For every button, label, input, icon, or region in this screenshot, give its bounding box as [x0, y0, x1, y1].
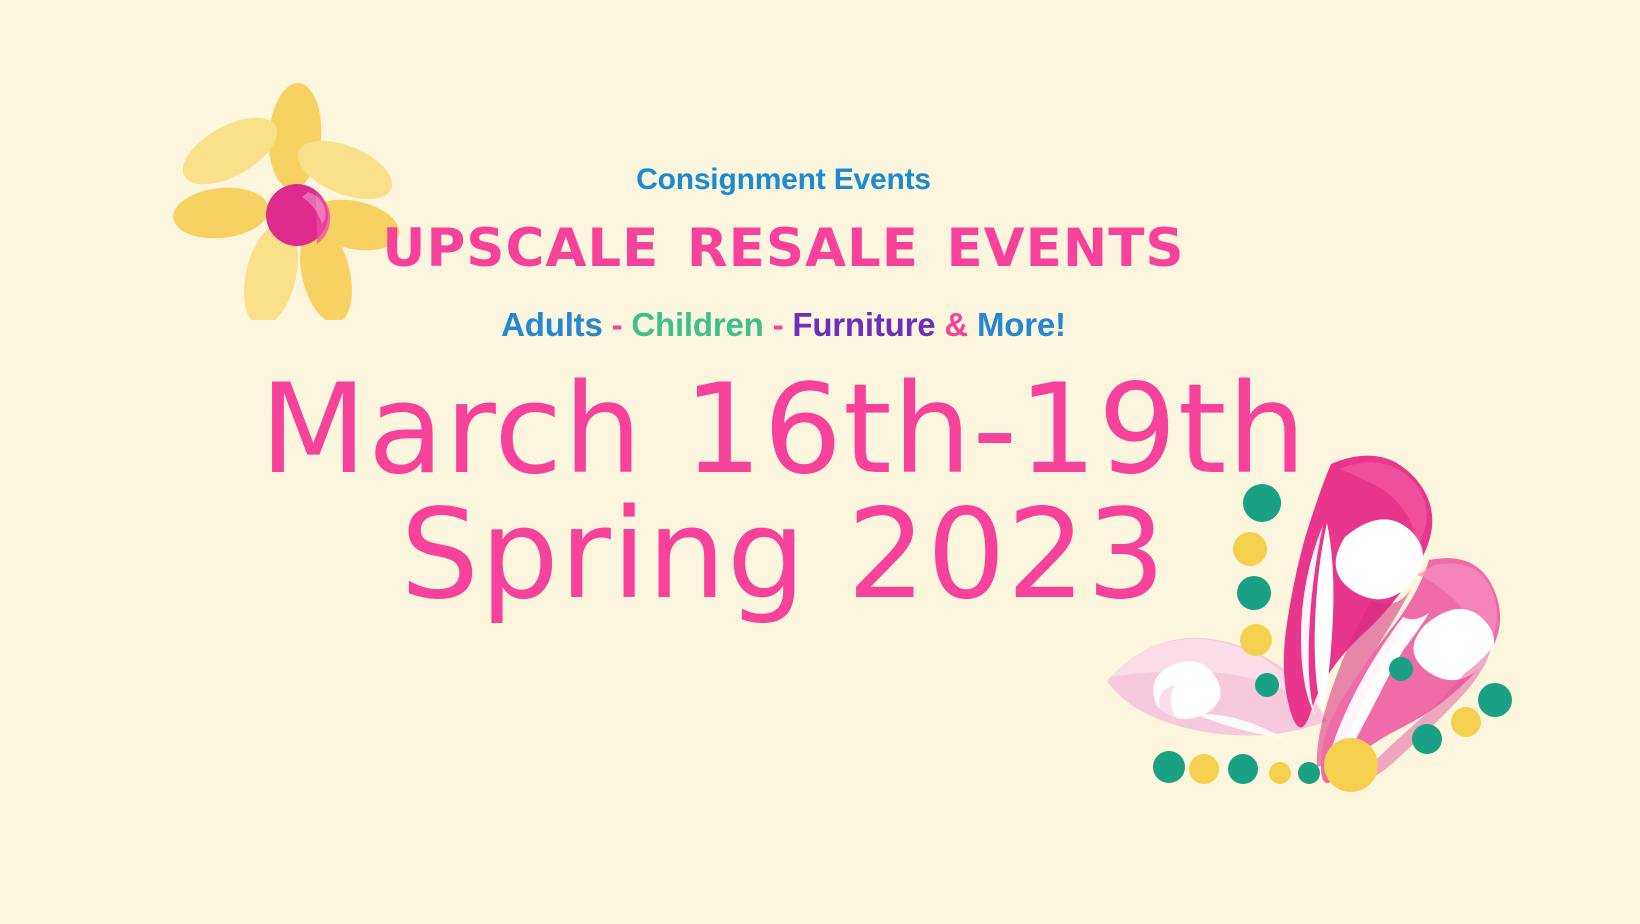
ornament-dot — [1189, 754, 1219, 784]
tagline-more: More! — [977, 306, 1066, 343]
ornament-dot — [1478, 683, 1512, 717]
ornament-dot — [1237, 576, 1271, 610]
ornament-dot — [1389, 657, 1413, 681]
ornament-dot — [1269, 762, 1291, 784]
brand-title-text: Upscale Resale Events — [382, 195, 1184, 284]
tagline-adults: Adults — [501, 306, 602, 343]
tagline-children: Children — [631, 306, 763, 343]
tagline-dash-2: - — [764, 306, 793, 343]
ornament-dot — [1412, 724, 1442, 754]
poster-canvas: Consignment Events Upscale Resale Events… — [0, 0, 1640, 924]
brand-title: Upscale Resale Events — [0, 202, 1567, 278]
tagline-dash-1: - — [603, 306, 632, 343]
paisley-flourish-decoration — [1095, 425, 1515, 800]
eyebrow-consignment-events: Consignment Events — [0, 163, 1567, 197]
ornament-dot — [1228, 754, 1258, 784]
ornament-dot — [1451, 707, 1481, 737]
ornament-dot — [1153, 751, 1185, 783]
tagline-ampersand: & — [935, 306, 977, 343]
tagline-furniture: Furniture — [792, 306, 935, 343]
ornament-dot — [1240, 624, 1272, 656]
ornament-dot — [1298, 762, 1320, 784]
ornament-dot — [1243, 484, 1281, 522]
ornament-dot — [1255, 673, 1279, 697]
ornament-dot — [1233, 532, 1267, 566]
daisy-flower-decoration — [168, 78, 400, 320]
tagline: Adults - Children - Furniture & More! — [0, 306, 1567, 344]
ornament-dot-large — [1324, 738, 1378, 792]
